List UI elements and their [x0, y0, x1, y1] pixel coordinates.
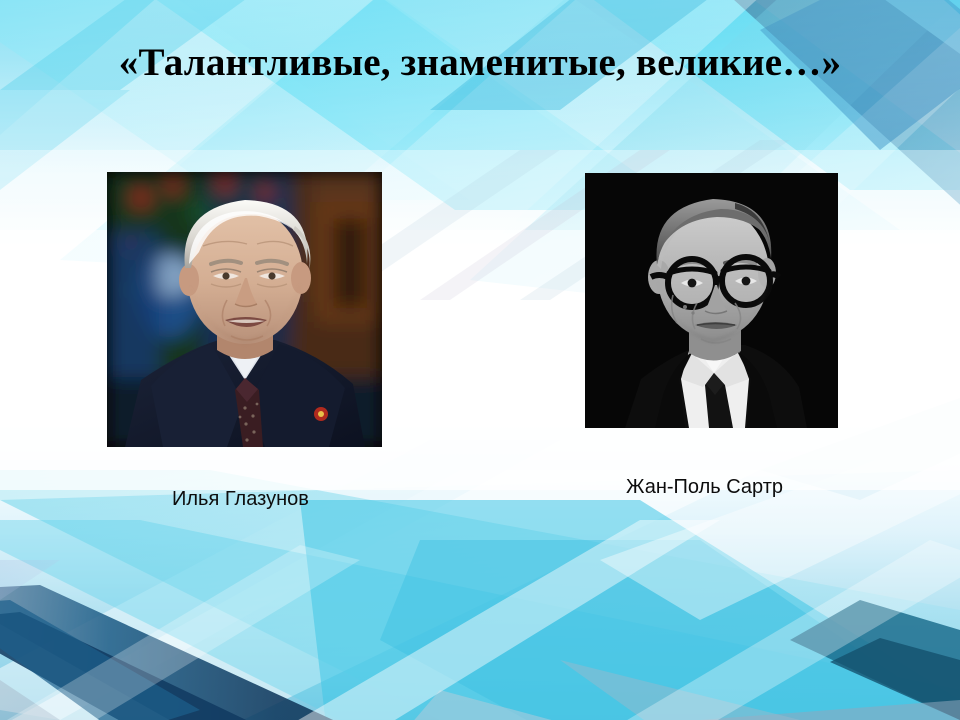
caption-glazunov: Илья Глазунов — [172, 487, 309, 511]
portrait-photo-glazunov[interactable] — [107, 172, 382, 447]
slide-title: «Талантливые, знаменитые, великие…» — [0, 40, 960, 86]
caption-sartre: Жан-Поль Сартр — [626, 475, 783, 499]
presentation-slide: «Талантливые, знаменитые, великие…» — [0, 0, 960, 720]
portrait-photo-sartre[interactable] — [585, 173, 838, 428]
